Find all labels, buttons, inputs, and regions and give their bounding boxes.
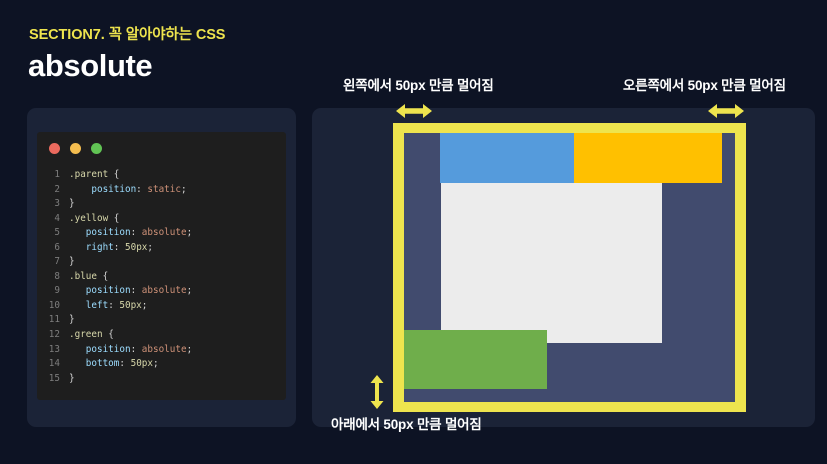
- code-line: 6 right: 50px;: [37, 241, 286, 256]
- close-dot[interactable]: [49, 143, 60, 154]
- code-line-number: 5: [37, 226, 69, 241]
- code-line-text: right: 50px;: [69, 241, 153, 256]
- code-line-number: 11: [37, 313, 69, 328]
- code-line-text: position: absolute;: [69, 226, 192, 241]
- code-line-number: 1: [37, 168, 69, 183]
- code-line: 13 position: absolute;: [37, 343, 286, 358]
- yellow-frame-box: [393, 123, 746, 412]
- code-line-text: position: absolute;: [69, 343, 192, 358]
- code-line: 3}: [37, 197, 286, 212]
- maximize-dot[interactable]: [91, 143, 102, 154]
- code-line-text: .blue {: [69, 270, 108, 285]
- code-line-text: }: [69, 197, 75, 212]
- code-line-text: }: [69, 372, 75, 387]
- code-line-number: 8: [37, 270, 69, 285]
- code-line-number: 4: [37, 212, 69, 227]
- code-line-text: position: static;: [69, 183, 187, 198]
- code-line: 15}: [37, 372, 286, 387]
- window-controls: [49, 143, 102, 154]
- code-line-text: }: [69, 313, 75, 328]
- code-line: 2 position: static;: [37, 183, 286, 198]
- double-arrow-horizontal-left-icon: [396, 102, 432, 125]
- code-line-text: .parent {: [69, 168, 119, 183]
- annotation-left-label: 왼쪽에서 50px 만큼 멀어짐: [343, 74, 494, 94]
- code-line-number: 14: [37, 357, 69, 372]
- code-line-number: 6: [37, 241, 69, 256]
- code-line-text: .green {: [69, 328, 114, 343]
- annotation-bottom-label: 아래에서 50px 만큼 멀어짐: [331, 413, 482, 433]
- code-line: 8.blue {: [37, 270, 286, 285]
- code-line: 10 left: 50px;: [37, 299, 286, 314]
- code-line-text: position: absolute;: [69, 284, 192, 299]
- diagram-card: [312, 108, 815, 427]
- parent-box: [404, 133, 735, 402]
- code-line-number: 7: [37, 255, 69, 270]
- code-card: 1.parent {2 position: static;3}4.yellow …: [27, 108, 296, 427]
- double-arrow-horizontal-right-icon: [708, 102, 744, 125]
- green-absolute-box: [404, 330, 547, 389]
- code-line-number: 12: [37, 328, 69, 343]
- code-line-text: }: [69, 255, 75, 270]
- code-line: 7}: [37, 255, 286, 270]
- double-arrow-vertical-bottom-icon: [369, 375, 385, 414]
- code-line-text: left: 50px;: [69, 299, 147, 314]
- code-line-number: 3: [37, 197, 69, 212]
- code-line: 11}: [37, 313, 286, 328]
- annotation-right-label: 오른쪽에서 50px 만큼 멀어짐: [623, 74, 786, 94]
- code-line-number: 2: [37, 183, 69, 198]
- page-title: absolute: [28, 48, 152, 84]
- code-line-number: 10: [37, 299, 69, 314]
- code-window: 1.parent {2 position: static;3}4.yellow …: [37, 132, 286, 400]
- code-line-number: 9: [37, 284, 69, 299]
- section-label: SECTION7. 꼭 알아야하는 CSS: [29, 23, 225, 44]
- orange-absolute-box: [574, 133, 722, 183]
- blue-absolute-box: [440, 133, 574, 183]
- code-line: 4.yellow {: [37, 212, 286, 227]
- static-content-box: [441, 183, 662, 343]
- code-line: 9 position: absolute;: [37, 284, 286, 299]
- slide-root: SECTION7. 꼭 알아야하는 CSS absolute 1.parent …: [0, 0, 827, 464]
- code-line-text: bottom: 50px;: [69, 357, 159, 372]
- code-line: 1.parent {: [37, 168, 286, 183]
- code-editor[interactable]: 1.parent {2 position: static;3}4.yellow …: [37, 168, 286, 386]
- code-line-number: 13: [37, 343, 69, 358]
- code-line: 14 bottom: 50px;: [37, 357, 286, 372]
- code-line-text: .yellow {: [69, 212, 119, 227]
- code-line-number: 15: [37, 372, 69, 387]
- minimize-dot[interactable]: [70, 143, 81, 154]
- code-line: 12.green {: [37, 328, 286, 343]
- code-line: 5 position: absolute;: [37, 226, 286, 241]
